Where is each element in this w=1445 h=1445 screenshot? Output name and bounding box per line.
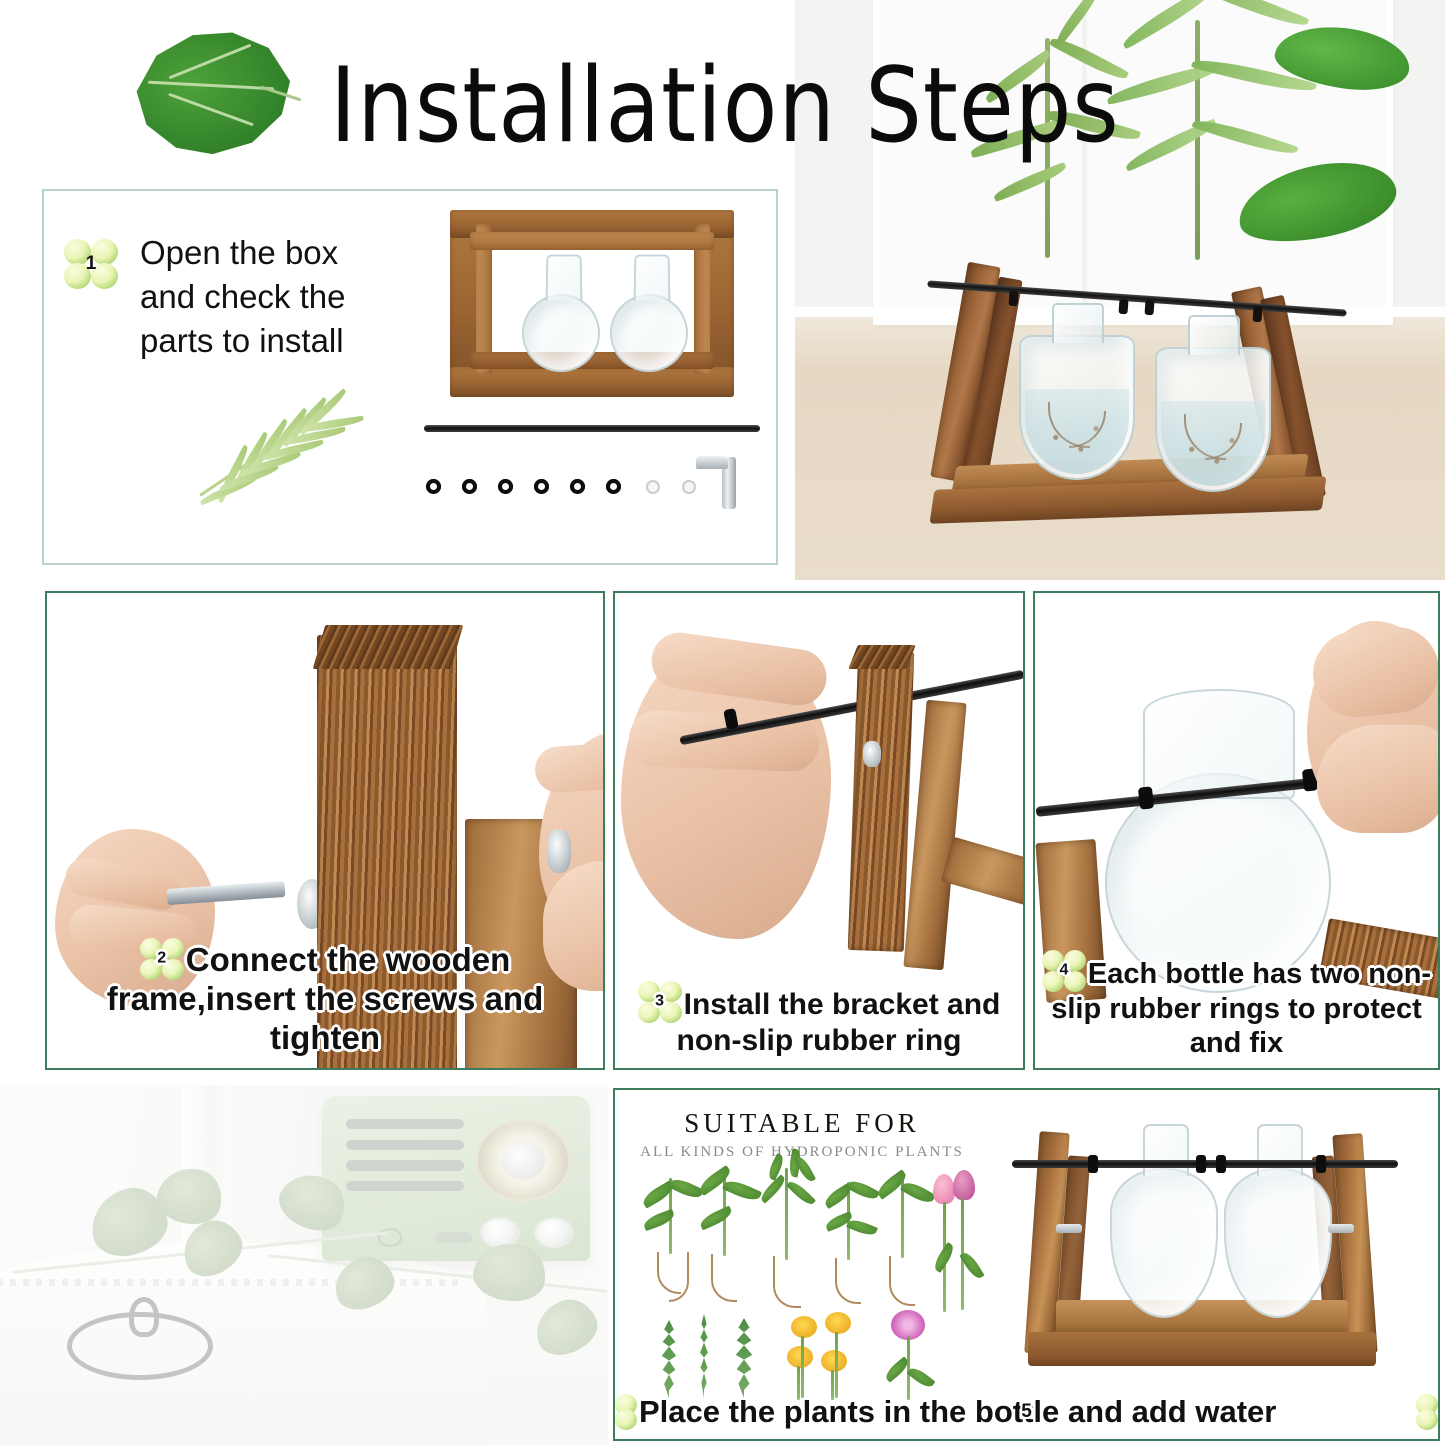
rubber-o-ring (534, 479, 549, 494)
step-2-caption: 2 Connect the wooden frame,insert the sc… (47, 938, 603, 1058)
rooted-cutting (821, 1182, 877, 1324)
rubber-ring (1216, 1155, 1226, 1173)
glass-vase-left (1019, 335, 1135, 480)
step-5-caption: 5 Place the plants in the bottle and add… (615, 1394, 1438, 1430)
finger (534, 738, 605, 794)
assembled-stand (923, 255, 1353, 555)
rubber-ring (1118, 299, 1128, 315)
fern-leaf (693, 1314, 715, 1398)
step-3-caption: 3 Install the bracket and non-slip rubbe… (615, 981, 1023, 1058)
step-number: 1 (64, 253, 118, 275)
page-title: Installation Steps (330, 46, 1120, 166)
glass-bulb-vase (610, 294, 688, 372)
rubber-ring (1144, 300, 1154, 316)
rubber-ring (1008, 291, 1018, 307)
suitable-title: SUITABLE FOR (637, 1108, 967, 1139)
step-5-panel: SUITABLE FOR ALL KINDS OF HYDROPONIC PLA… (613, 1088, 1440, 1441)
rooted-cutting (875, 1174, 929, 1324)
wooden-post-main (848, 650, 914, 952)
bolt (1328, 1224, 1354, 1233)
step-2-badge: 2 (140, 938, 184, 980)
frame-side-bottom (450, 367, 734, 397)
hero-plant-right (1125, 0, 1425, 290)
bolt (1056, 1224, 1082, 1233)
step-4-badge: 4 (1042, 950, 1086, 992)
suitable-for-heading: SUITABLE FOR ALL KINDS OF HYDROPONIC PLA… (637, 1108, 967, 1161)
rubber-o-ring (570, 479, 585, 494)
assembled-stand-empty (1010, 1114, 1400, 1382)
step-3-panel: 3 Install the bracket and non-slip rubbe… (613, 591, 1025, 1070)
step-number: 3 (638, 992, 682, 1011)
rubber-o-ring (462, 479, 477, 494)
rubber-ring (1316, 1155, 1326, 1173)
wooden-base (941, 837, 1025, 912)
metal-ring-decor (67, 1312, 213, 1380)
plant-illustrations (645, 1168, 975, 1398)
radio-dial-center (501, 1142, 544, 1179)
rubber-ring-left (1138, 786, 1154, 809)
clover-icon: 5 (615, 1394, 1438, 1430)
step-4-caption-text: Each bottle has two non-slip rubber ring… (1051, 958, 1431, 1059)
step-number: 2 (140, 950, 184, 969)
clover-icon: 1 (64, 239, 118, 289)
fern-leaf (721, 1318, 767, 1398)
chrysanthemum-flower (877, 1310, 941, 1402)
palm-frond-icon (194, 386, 379, 511)
glass-vase-right (1155, 347, 1271, 492)
eucalyptus-leaf (528, 1292, 604, 1362)
clover-icon: 2 (140, 938, 184, 980)
wooden-post-second (903, 700, 966, 970)
rubber-o-ring (498, 479, 513, 494)
yellow-flowers (785, 1316, 881, 1402)
step-3-badge: 3 (638, 981, 682, 1023)
washer (646, 480, 660, 494)
rubber-ring (1252, 307, 1262, 323)
step-number: 5 (615, 1401, 1438, 1423)
wooden-post-top (848, 645, 916, 669)
hex-key (722, 457, 736, 509)
glass-vase-right (1224, 1168, 1332, 1318)
step-1-panel: 1 Open the box and check the parts to in… (42, 189, 778, 565)
rubber-ring (1196, 1155, 1206, 1173)
vase-neck (1188, 315, 1240, 355)
radio-dial (475, 1119, 571, 1202)
washer (682, 480, 696, 494)
stand-base-lower (1028, 1332, 1376, 1366)
step-4-panel: 4 Each bottle has two non-slip rubber ri… (1033, 591, 1440, 1070)
clover-icon: 3 (638, 981, 682, 1023)
screw-head (863, 741, 881, 767)
thumb (1317, 725, 1440, 833)
step-1-text: Open the box and check the parts to inst… (140, 231, 390, 363)
parts-photo (392, 197, 778, 557)
step-3-caption-text: Install the bracket and non-slip rubber … (677, 988, 1001, 1057)
step-1-badge: 1 (64, 239, 118, 289)
metal-rod-part (424, 425, 760, 432)
glass-bulb-vase (522, 294, 600, 372)
step-4-caption: 4 Each bottle has two non-slip rubber ri… (1035, 950, 1438, 1060)
frame-inner-top (470, 232, 714, 250)
wooden-frame-parts (442, 202, 742, 402)
rubber-ring (1088, 1155, 1098, 1173)
fern-leaf (649, 1320, 689, 1398)
step-2-panel: 2 Connect the wooden frame,insert the sc… (45, 591, 605, 1070)
infographic-page: Installation Steps 1 Open the box and ch… (0, 0, 1445, 1445)
radio-grille (346, 1119, 464, 1205)
step-number: 4 (1042, 961, 1086, 980)
plant-roots (1175, 414, 1251, 473)
clover-icon: 4 (1042, 950, 1086, 992)
screw-head (547, 829, 571, 873)
rooted-cutting (645, 1178, 697, 1308)
wooden-post-top (313, 625, 464, 669)
radio-button (435, 1232, 472, 1244)
rooted-cutting (697, 1168, 751, 1316)
lifestyle-photo (0, 1085, 608, 1445)
rooted-cutting-grass (757, 1162, 815, 1316)
plant-roots (1039, 402, 1115, 461)
vase-neck (1052, 303, 1104, 343)
tulip-flower (931, 1174, 977, 1324)
radio-knob (534, 1217, 574, 1248)
glass-vase-left (1110, 1168, 1218, 1318)
rubber-o-ring (426, 479, 441, 494)
rubber-o-ring (606, 479, 621, 494)
monstera-leaf-icon (130, 22, 300, 167)
